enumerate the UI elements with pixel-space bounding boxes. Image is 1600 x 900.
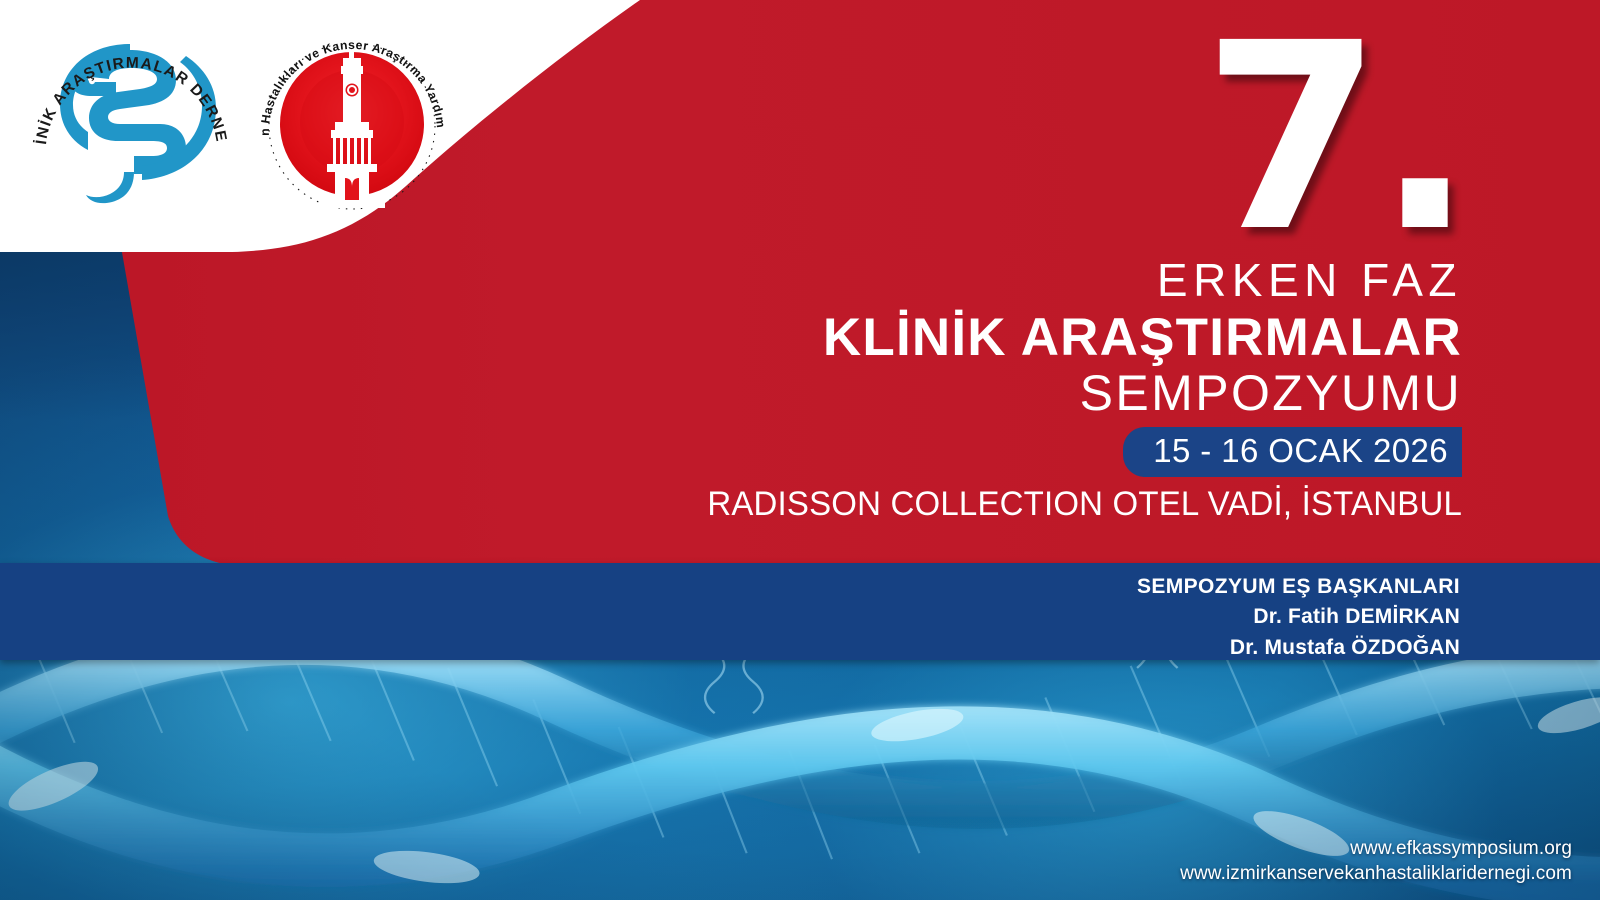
symposium-banner: KLİNİK ARAŞTIRMALAR DERNEĞİ <box>0 0 1600 900</box>
edition-number: 7. <box>562 28 1468 250</box>
chairs-title: SEMPOZYUM EŞ BAŞKANLARI <box>1137 572 1460 602</box>
website-urls: www.efkassymposium.org www.izmirkanserve… <box>1180 836 1572 886</box>
title-block: 7. ERKEN FAZ KLİNİK ARAŞTIRMALAR SEMPOZY… <box>562 28 1462 524</box>
url-symposium[interactable]: www.efkassymposium.org <box>1180 836 1572 861</box>
title-line-erken-faz: ERKEN FAZ <box>562 256 1462 306</box>
date-badge: 15 - 16 OCAK 2026 <box>1123 427 1462 477</box>
izmir-kanser-dernegi-logo[interactable]: İzmir Kan Hastalıkları ve Kanser Araştır… <box>255 18 450 214</box>
kad-logo-svg: KLİNİK ARAŞTIRMALAR DERNEĞİ <box>30 22 230 210</box>
chair-name-1: Dr. Fatih DEMİRKAN <box>1137 602 1460 632</box>
ikhkayd-logo-svg: İzmir Kan Hastalıkları ve Kanser Araştır… <box>255 18 450 214</box>
chairs-content: SEMPOZYUM EŞ BAŞKANLARI Dr. Fatih DEMİRK… <box>1137 572 1460 663</box>
venue-line: RADISSON COLLECTION OTEL VADİ, İSTANBUL <box>589 485 1462 524</box>
klinik-arastirmalar-dernegi-logo[interactable]: KLİNİK ARAŞTIRMALAR DERNEĞİ <box>30 22 230 210</box>
chair-name-2: Dr. Mustafa ÖZDOĞAN <box>1137 633 1460 663</box>
title-line-sempozyumu: SEMPOZYUMU <box>562 365 1462 421</box>
date-row: 15 - 16 OCAK 2026 <box>562 427 1462 477</box>
title-line-klinik-arastirmalar: KLİNİK ARAŞTIRMALAR <box>562 308 1462 367</box>
chairs-bar: SEMPOZYUM EŞ BAŞKANLARI Dr. Fatih DEMİRK… <box>0 563 1600 660</box>
url-dernek[interactable]: www.izmirkanservekanhastaliklaridernegi.… <box>1180 861 1572 886</box>
